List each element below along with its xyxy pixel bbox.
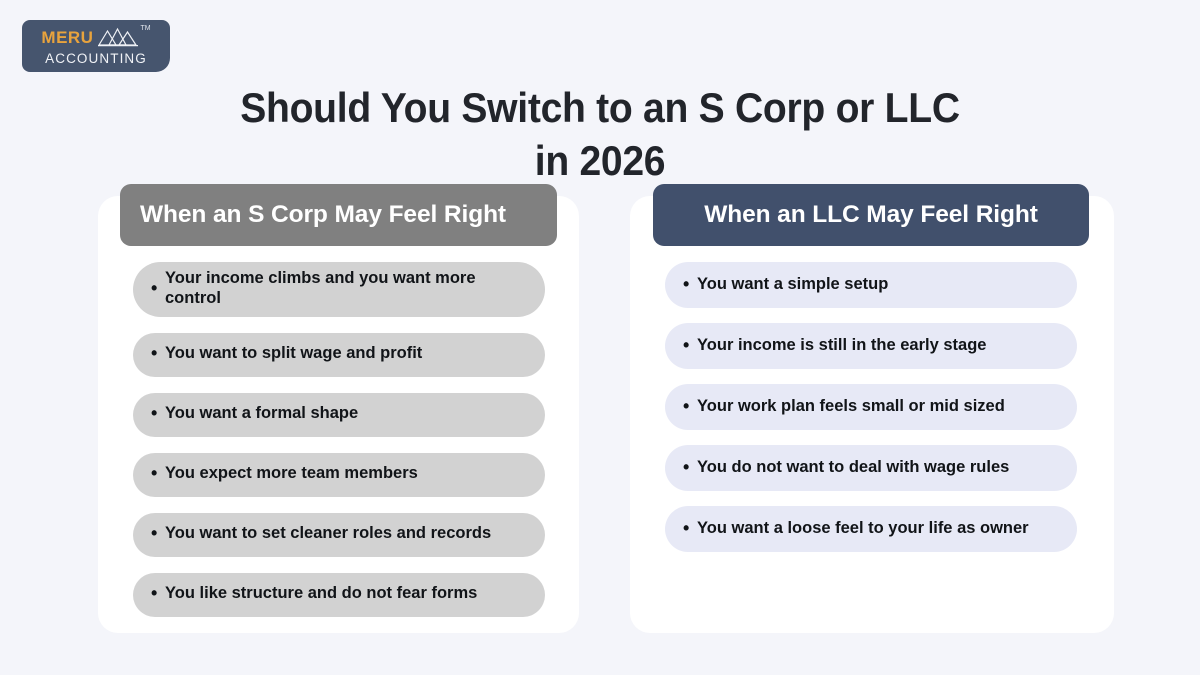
list-item: • You expect more team members (133, 453, 545, 497)
list-item-label: You want to set cleaner roles and record… (165, 524, 527, 544)
list-item: • You like structure and do not fear for… (133, 573, 545, 617)
list-item: • Your income is still in the early stag… (665, 323, 1077, 369)
list-item-label: You do not want to deal with wage rules (697, 458, 1059, 478)
logo-wordmark-row: MERU TM (41, 26, 150, 48)
list-item-label: You like structure and do not fear forms (165, 584, 527, 604)
infographic-page: { "theme": { "background": "#f4f5fa", "c… (0, 0, 1200, 675)
card-llc: When an LLC May Feel Right • You want a … (630, 196, 1114, 633)
brand-logo: MERU TM ACCOUNTING (22, 20, 170, 72)
logo-brand-text: MERU (41, 29, 93, 46)
card-llc-header: When an LLC May Feel Right (653, 184, 1089, 246)
card-llc-bullet-list: • You want a simple setup • Your income … (630, 262, 1114, 567)
list-item-label: You want a loose feel to your life as ow… (697, 519, 1059, 539)
bullet-icon: • (683, 397, 697, 415)
list-item-label: Your work plan feels small or mid sized (697, 397, 1059, 417)
list-item-label: You want a formal shape (165, 404, 527, 424)
list-item: • You want to set cleaner roles and reco… (133, 513, 545, 557)
bullet-icon: • (683, 519, 697, 537)
bullet-icon: • (151, 524, 165, 542)
card-s-corp-header: When an S Corp May Feel Right (120, 184, 557, 246)
list-item: • You do not want to deal with wage rule… (665, 445, 1077, 491)
bullet-icon: • (151, 404, 165, 422)
card-s-corp: When an S Corp May Feel Right • Your inc… (98, 196, 579, 633)
list-item: • Your income climbs and you want more c… (133, 262, 545, 317)
bullet-icon: • (151, 279, 165, 297)
list-item-label: You expect more team members (165, 464, 527, 484)
list-item: • Your work plan feels small or mid size… (665, 384, 1077, 430)
list-item: • You want a simple setup (665, 262, 1077, 308)
list-item-label: You want a simple setup (697, 275, 1059, 295)
list-item: • You want to split wage and profit (133, 333, 545, 377)
bullet-icon: • (683, 275, 697, 293)
bullet-icon: • (683, 458, 697, 476)
bullet-icon: • (151, 344, 165, 362)
list-item-label: Your income climbs and you want more con… (165, 269, 527, 309)
bullet-icon: • (151, 464, 165, 482)
card-s-corp-bullet-list: • Your income climbs and you want more c… (98, 262, 579, 633)
list-item-label: Your income is still in the early stage (697, 336, 1059, 356)
mountain-icon (97, 26, 139, 48)
logo-subtitle: ACCOUNTING (45, 51, 147, 66)
bullet-icon: • (683, 336, 697, 354)
page-title: Should You Switch to an S Corp or LLC in… (228, 82, 972, 188)
list-item: • You want a formal shape (133, 393, 545, 437)
list-item: • You want a loose feel to your life as … (665, 506, 1077, 552)
bullet-icon: • (151, 584, 165, 602)
trademark-icon: TM (140, 25, 150, 32)
list-item-label: You want to split wage and profit (165, 344, 527, 364)
